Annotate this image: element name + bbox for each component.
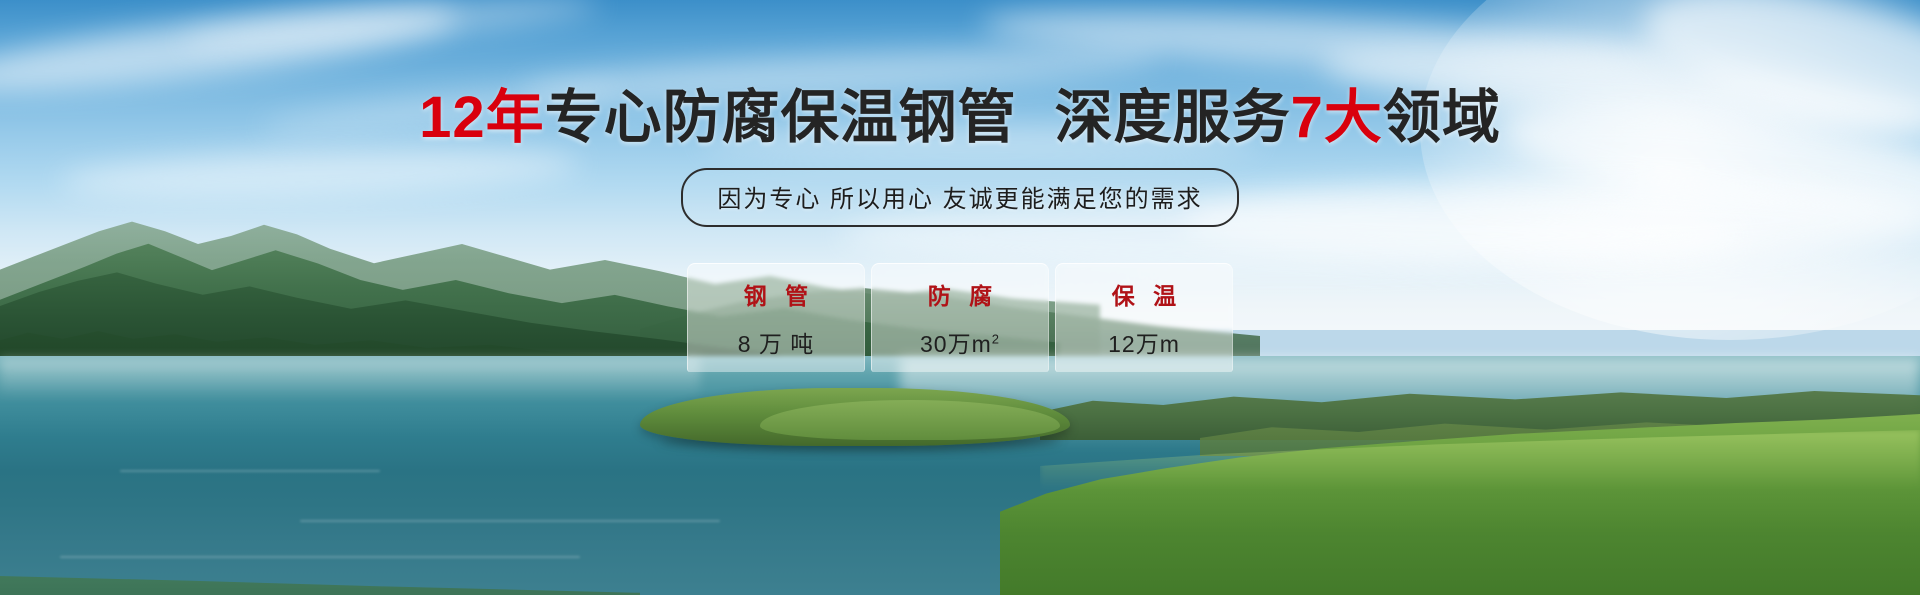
stat-card-title: 保 温: [1106, 277, 1182, 311]
stat-card-value-main: 8 万 吨: [738, 331, 815, 357]
stat-card-value-main: 30万m: [920, 331, 992, 357]
banner-subtitle: 因为专心 所以用心 友诚更能满足您的需求: [681, 168, 1238, 227]
headline-fields-text: 领域: [1383, 85, 1501, 150]
stat-card-list: 钢 管 8 万 吨 防 腐 30万m2 保 温 12万m: [0, 263, 1920, 372]
stat-card-value: 12万m: [1108, 325, 1180, 359]
stat-card-value: 8 万 吨: [738, 325, 815, 359]
hero-banner: 12年专心防腐保温钢管深度服务7大领域 因为专心 所以用心 友诚更能满足您的需求…: [0, 0, 1920, 595]
stat-card-insulation[interactable]: 保 温 12万m: [1055, 263, 1233, 372]
stat-card-anticorrosion[interactable]: 防 腐 30万m2: [871, 263, 1049, 372]
stat-card-title: 钢 管: [738, 277, 814, 311]
headline-main-text: 专心防腐保温钢管: [545, 85, 1017, 150]
water-ripple: [60, 556, 580, 558]
stat-card-value-superscript: 2: [992, 331, 1000, 346]
headline-fields-number: 7大: [1291, 85, 1383, 150]
headline-service-text: 深度服务: [1055, 85, 1291, 150]
banner-subtitle-wrap: 因为专心 所以用心 友诚更能满足您的需求: [0, 168, 1920, 227]
water-ripple: [300, 520, 720, 522]
stat-card-value-main: 12万m: [1108, 331, 1180, 357]
stat-card-steel-pipe[interactable]: 钢 管 8 万 吨: [687, 263, 865, 372]
headline-years: 12年: [419, 85, 545, 150]
stat-card-title: 防 腐: [922, 277, 998, 311]
stat-card-value: 30万m2: [920, 325, 1000, 359]
banner-headline: 12年专心防腐保温钢管深度服务7大领域: [0, 88, 1920, 148]
water-ripple: [120, 470, 380, 472]
